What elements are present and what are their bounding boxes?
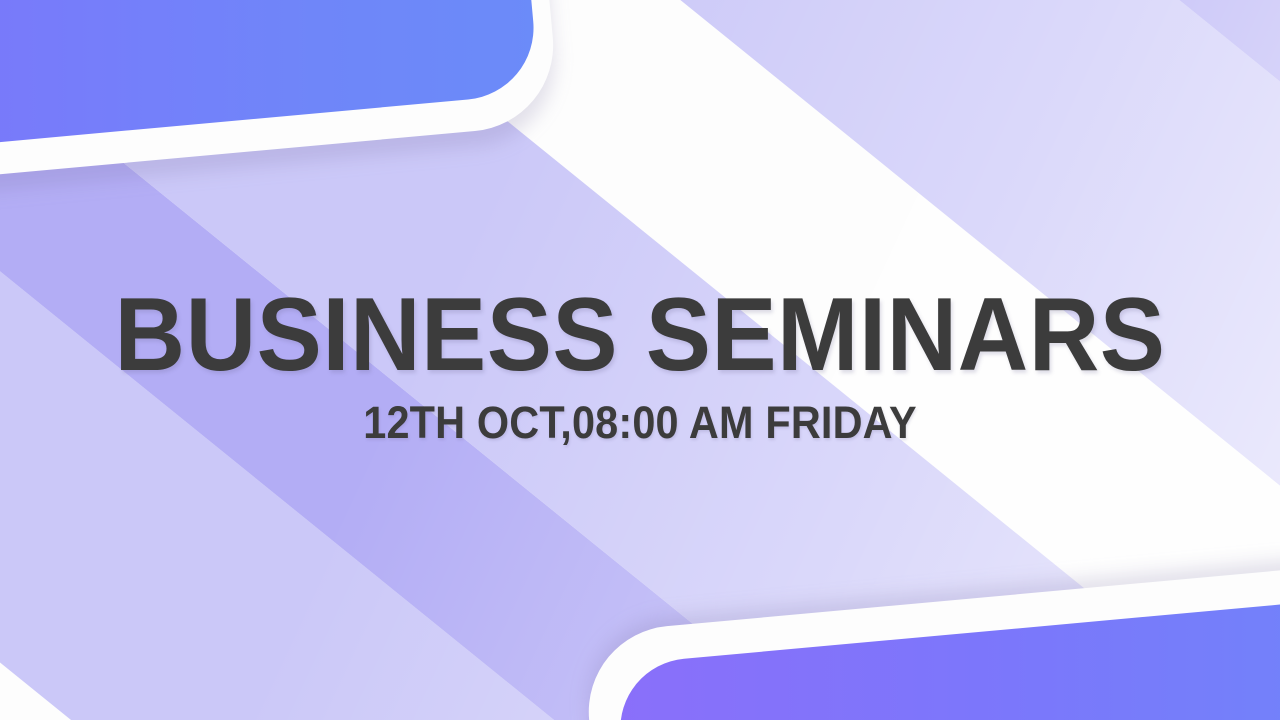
- event-poster: BUSINESS SEMINARS 12TH OCT,08:00 AM FRID…: [0, 0, 1280, 720]
- top-plate-shadow: [0, 0, 562, 231]
- top-plate-outline: [0, 0, 561, 215]
- stripe-band: [0, 448, 950, 720]
- top-plate-fill: [0, 0, 540, 181]
- bottom-right-gradient-plate: [581, 538, 1280, 720]
- event-title: BUSINESS SEMINARS: [38, 286, 1241, 386]
- bottom-plate-fill: [614, 574, 1280, 720]
- stripe-band: [330, 0, 1280, 272]
- bottom-plate-shadow: [580, 528, 1280, 720]
- bottom-plate-outline: [581, 538, 1280, 720]
- event-subtitle-datetime: 12TH OCT,08:00 AM FRIDAY: [51, 400, 1229, 445]
- stripe-band: [521, 0, 1280, 36]
- top-left-gradient-plate: [0, 0, 561, 215]
- headline-block: BUSINESS SEMINARS 12TH OCT,08:00 AM FRID…: [0, 286, 1280, 445]
